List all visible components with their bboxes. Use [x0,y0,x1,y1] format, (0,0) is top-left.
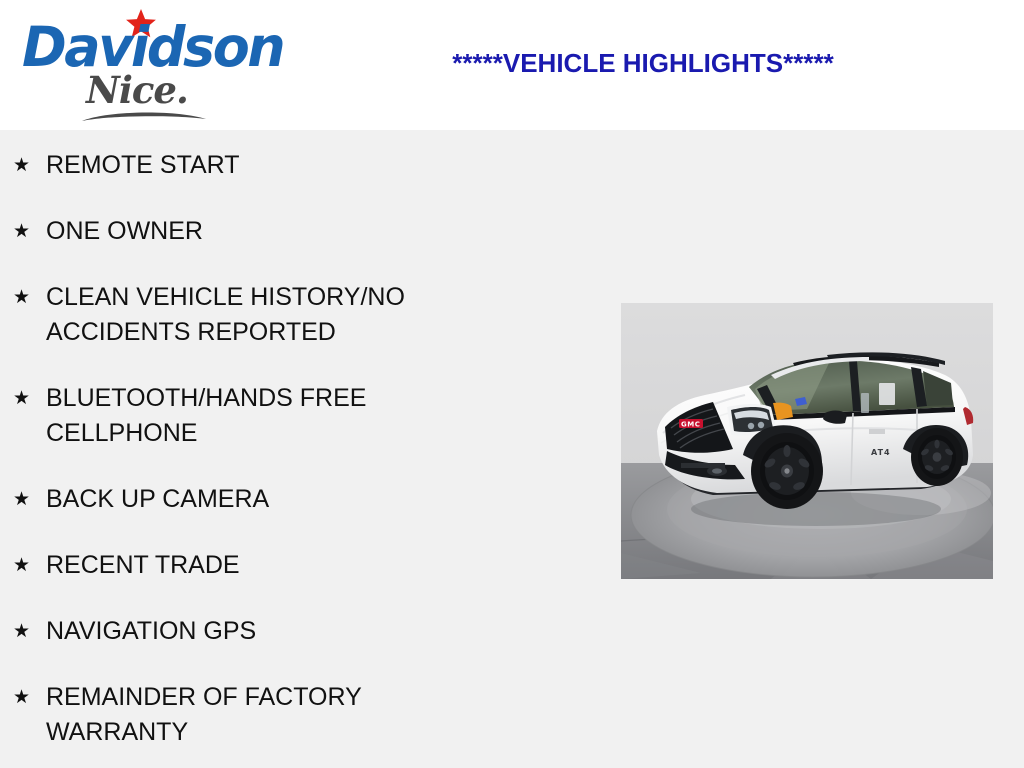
list-item: ★ REMOTE START [0,148,560,183]
svg-text:GMC: GMC [681,421,700,429]
star-bullet-icon: ★ [13,680,30,715]
star-bullet-icon: ★ [13,482,30,517]
list-item: ★ RECENT TRADE [0,548,560,583]
highlight-label: BACK UP CAMERA [46,482,506,517]
logo-sub-name: Nice. [86,72,188,109]
logo-brand-name: Davidson [22,20,283,75]
vehicle-photo[interactable]: AT4 GMC [621,303,993,579]
vehicle-highlights-page: Davidson Nice. *****VEHICLE HIGHLIGHTS**… [0,0,1024,768]
highlight-label: REMAINDER OF FACTORY WARRANTY [46,680,506,750]
page-header: Davidson Nice. *****VEHICLE HIGHLIGHTS**… [0,0,1024,130]
vehicle-highlights-list: ★ REMOTE START ★ ONE OWNER ★ CLEAN VEHIC… [0,130,560,768]
list-item: ★ ONE OWNER [0,214,560,249]
highlight-label: REMOTE START [46,148,506,183]
star-bullet-icon: ★ [13,381,30,416]
list-item: ★ REMAINDER OF FACTORY WARRANTY [0,680,560,750]
logo-swoosh-underline [80,108,208,124]
list-item: ★ BLUETOOTH/HANDS FREE CELLPHONE [0,381,560,451]
list-item: ★ NAVIGATION GPS [0,614,560,649]
page-title: *****VEHICLE HIGHLIGHTS***** [278,48,1008,79]
list-item: ★ CLEAN VEHICLE HISTORY/NO ACCIDENTS REP… [0,280,560,350]
highlight-label: RECENT TRADE [46,548,506,583]
highlight-label: ONE OWNER [46,214,506,249]
svg-text:AT4: AT4 [871,448,891,457]
dealer-logo[interactable]: Davidson Nice. [14,4,274,126]
highlight-label: BLUETOOTH/HANDS FREE CELLPHONE [46,381,506,451]
star-bullet-icon: ★ [13,148,30,183]
star-bullet-icon: ★ [13,280,30,315]
highlight-label: NAVIGATION GPS [46,614,506,649]
list-item: ★ BACK UP CAMERA [0,482,560,517]
star-bullet-icon: ★ [13,214,30,249]
star-bullet-icon: ★ [13,548,30,583]
highlight-label: CLEAN VEHICLE HISTORY/NO ACCIDENTS REPOR… [46,280,506,350]
star-bullet-icon: ★ [13,614,30,649]
